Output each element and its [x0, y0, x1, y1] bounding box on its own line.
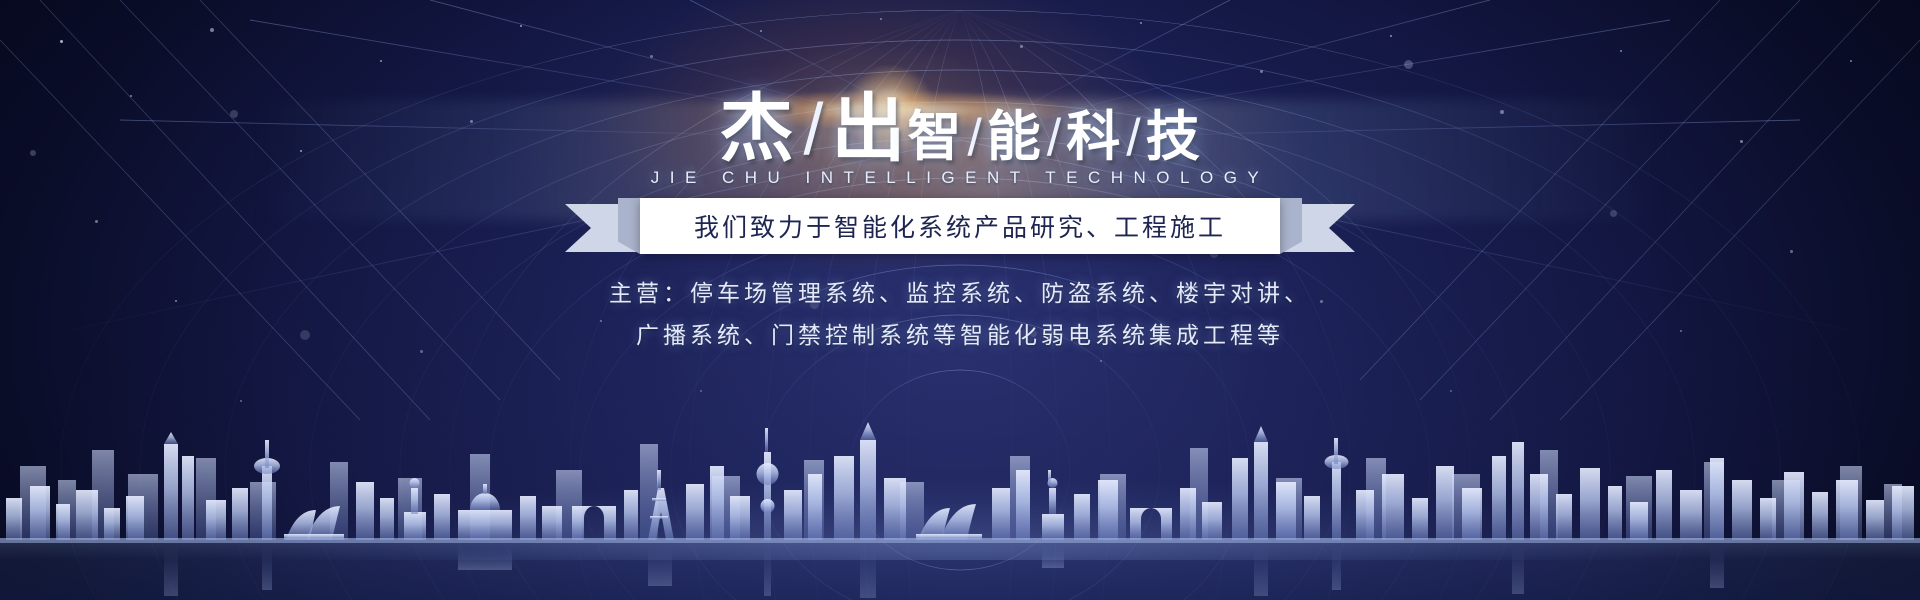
title-slash-1: /	[803, 94, 823, 166]
title-char-2: 出	[831, 92, 907, 166]
title-char-1: 杰	[719, 92, 795, 166]
title-char-5: 科	[1066, 110, 1121, 164]
page-title: 杰 / 出 智 / 能 / 科 / 技	[0, 92, 1920, 166]
title-char-6: 技	[1146, 110, 1201, 164]
english-subtitle: JIE CHU INTELLIGENT TECHNOLOGY	[0, 168, 1920, 188]
hero-banner: 杰 / 出 智 / 能 / 科 / 技 JIE CHU INTELLIGENT …	[0, 0, 1920, 600]
ribbon-body: 我们致力于智能化系统产品研究、工程施工	[640, 198, 1280, 254]
ribbon-text: 我们致力于智能化系统产品研究、工程施工	[694, 208, 1226, 244]
title-slash-4: /	[1126, 112, 1140, 164]
title-char-4: 能	[987, 110, 1042, 164]
description-block: 主营：停车场管理系统、监控系统、防盗系统、楼宇对讲、 广播系统、门禁控制系统等智…	[0, 272, 1920, 356]
title-slash-2: /	[967, 112, 981, 164]
water-reflection-graphic	[0, 538, 1920, 600]
description-line-1: 主营：停车场管理系统、监控系统、防盗系统、楼宇对讲、	[0, 272, 1920, 314]
description-line-2: 广播系统、门禁控制系统等智能化弱电系统集成工程等	[0, 314, 1920, 356]
tagline-ribbon: 我们致力于智能化系统产品研究、工程施工	[0, 198, 1920, 258]
title-slash-3: /	[1047, 112, 1061, 164]
title-char-3: 智	[907, 110, 962, 164]
